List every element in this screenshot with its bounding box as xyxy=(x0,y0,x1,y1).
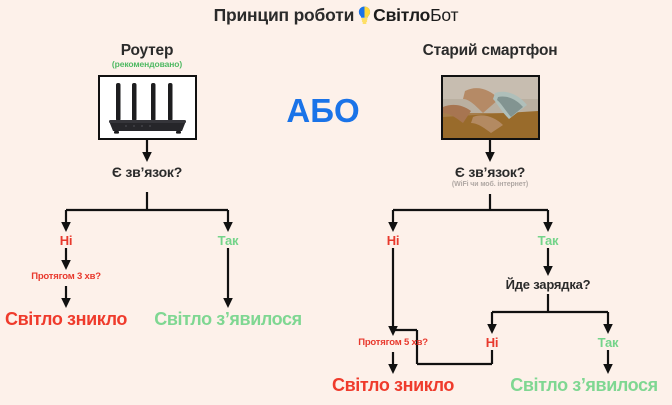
phone-charging-no-label: Ні xyxy=(442,336,542,350)
brand-name-part1: Світло xyxy=(373,5,430,25)
phone-photo xyxy=(441,75,540,140)
router-no-timer-condition: Протягом 3 хв? xyxy=(6,272,126,282)
router-heading: Роутер xyxy=(47,43,247,59)
phone-heading: Старий смартфон xyxy=(390,43,590,59)
router-recommended-note: (рекомендовано) xyxy=(47,60,247,69)
router-photo xyxy=(98,75,197,140)
phone-no-label: Ні xyxy=(343,234,443,248)
phone-yes-label: Так xyxy=(498,234,598,248)
page-title: Принцип роботи СвітлоБот xyxy=(0,5,672,26)
phone-charging-yes-label: Так xyxy=(558,336,658,350)
router-no-label: Ні xyxy=(16,234,116,248)
router-yes-label: Так xyxy=(178,234,278,248)
router-connection-question: Є зв’язок? xyxy=(47,165,247,180)
phone-connection-question-note: (WiFi чи моб. інтернет) xyxy=(390,181,590,188)
flowchart-canvas: Принцип роботи СвітлоБот xyxy=(0,0,672,405)
lightbulb-icon xyxy=(358,6,371,24)
router-outcome-power-lost: Світло зникло xyxy=(0,310,132,329)
phone-branch-header: Старий смартфон xyxy=(390,43,590,59)
phone-outcome-power-lost: Світло зникло xyxy=(326,376,460,395)
phone-no-timer-condition: Протягом 5 хв? xyxy=(333,338,453,348)
router-outcome-power-restored: Світло з’явилося xyxy=(140,310,316,329)
router-branch-header: Роутер (рекомендовано) xyxy=(47,43,247,69)
or-divider-label: АБО xyxy=(258,92,388,130)
phone-connection-question-group: Є зв’язок? (WiFi чи моб. інтернет) xyxy=(390,165,590,188)
phone-outcome-power-restored: Світло з’явилося xyxy=(496,376,672,395)
page-title-prefix: Принцип роботи xyxy=(214,5,355,25)
phone-charging-question: Йде зарядка? xyxy=(468,278,628,292)
phone-connection-question: Є зв’язок? xyxy=(390,165,590,180)
brand-name-part2: Бот xyxy=(430,5,458,25)
